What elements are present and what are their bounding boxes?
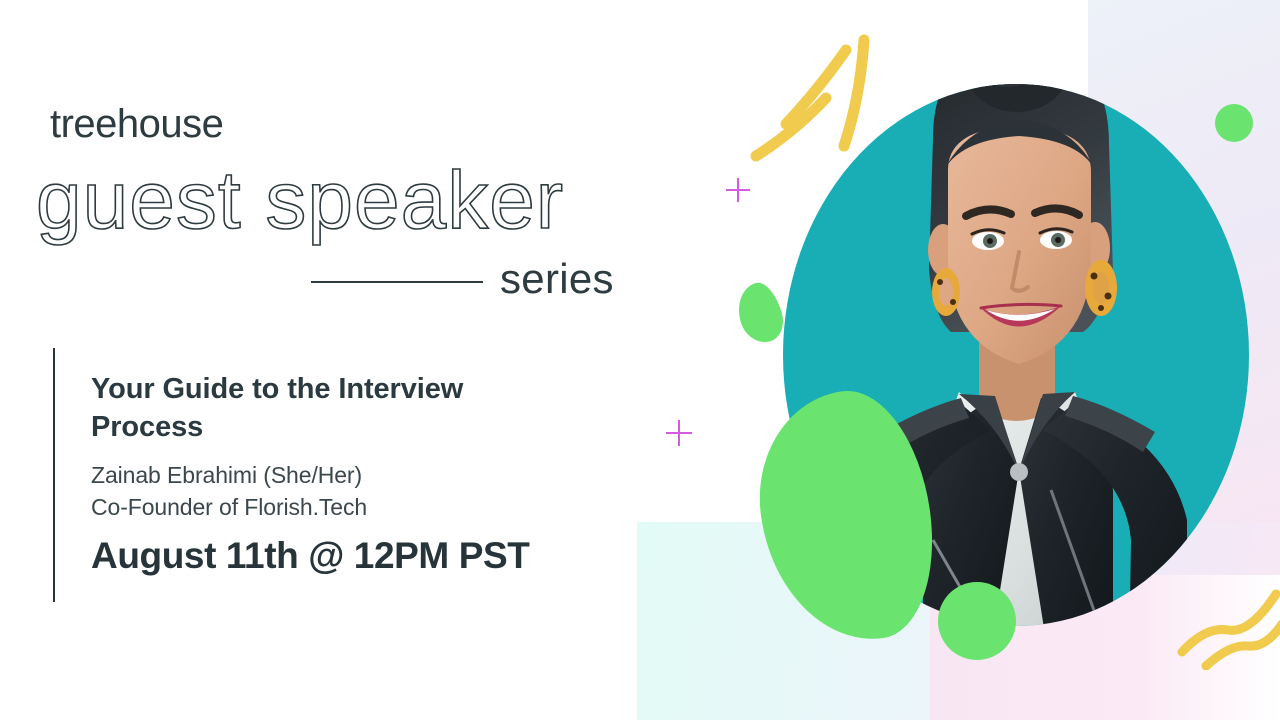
speaker-role: Co-Founder of Florish.Tech: [91, 493, 367, 523]
headline-outline-text: guest speaker: [36, 160, 564, 242]
plus-mark-upper-icon: [726, 178, 750, 202]
event-datetime: August 11th @ 12PM PST: [91, 534, 529, 578]
session-title: Your Guide to the Interview Process: [91, 370, 511, 447]
promo-slide: treehouse guest speaker series Your Guid…: [0, 0, 1280, 720]
detail-vertical-rule: [53, 348, 55, 602]
sparkle-strokes-icon: [748, 28, 898, 188]
brand-wordmark: treehouse: [50, 104, 223, 144]
green-circle-topright-shape: [1215, 104, 1253, 142]
plus-mark-lower-icon: [666, 420, 692, 446]
green-circle-bottom-shape: [938, 582, 1016, 660]
series-divider-rule: [311, 281, 483, 283]
green-blob-small-shape: [732, 278, 789, 347]
series-label: series: [500, 258, 614, 300]
wave-strokes-icon: [1172, 580, 1280, 670]
speaker-name: Zainab Ebrahimi (She/Her): [91, 461, 362, 491]
